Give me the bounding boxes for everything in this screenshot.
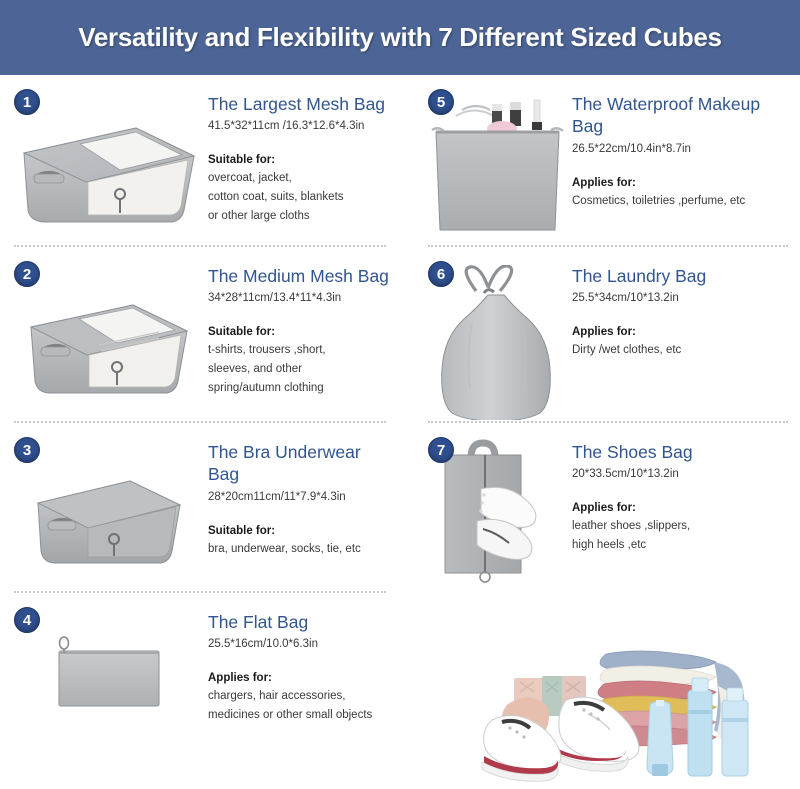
- item-applies-line: spring/autumn clothing: [208, 379, 392, 398]
- item-image-2: [8, 261, 208, 423]
- item-applies-line: t-shirts, trousers ,short,: [208, 341, 392, 360]
- item-applies-line: medicines or other small objects: [208, 706, 392, 725]
- item-badge-7: 7: [428, 437, 454, 463]
- item-applies-label-1: Suitable for:: [208, 154, 392, 166]
- item-row-2: 2: [8, 247, 392, 423]
- item-applies-label-6: Applies for:: [572, 326, 794, 338]
- item-badge-6: 6: [428, 261, 454, 287]
- item-badge-1: 1: [14, 89, 40, 115]
- item-applies-line: high heels ,etc: [572, 536, 794, 555]
- large-mesh-bag-icon: [16, 98, 201, 238]
- item-badge-5: 5: [428, 89, 454, 115]
- item-dimensions-4: 25.5*16cm/10.0*6.3in: [208, 636, 392, 652]
- item-applies-line: sleeves, and other: [208, 360, 392, 379]
- medium-mesh-bag-icon: [21, 275, 196, 410]
- item-text-7: The Shoes Bag 20*33.5cm/10*13.2in Applie…: [572, 437, 794, 593]
- item-row-3: 3: [8, 423, 392, 593]
- item-applies-label-3: Suitable for:: [208, 525, 392, 537]
- item-title-7: The Shoes Bag: [572, 441, 794, 463]
- item-applies-label-7: Applies for:: [572, 502, 794, 514]
- item-text-6: The Laundry Bag 25.5*34cm/10*13.2in Appl…: [572, 261, 794, 423]
- item-applies-line: leather shoes ,slippers,: [572, 517, 794, 536]
- header-banner: Versatility and Flexibility with 7 Diffe…: [0, 0, 800, 75]
- item-text-3: The Bra Underwear Bag 28*20cm11cm/11*7.9…: [208, 437, 392, 593]
- item-title-5: The Waterproof Makeup Bag: [572, 93, 794, 138]
- flat-bag-icon: [43, 629, 173, 724]
- item-title-3: The Bra Underwear Bag: [208, 441, 392, 486]
- left-column: 1: [0, 75, 400, 786]
- item-row-7: 7: [422, 423, 794, 593]
- item-dimensions-2: 34*28*11cm/13.4*11*4.3in: [208, 290, 392, 306]
- item-image-3: [8, 437, 208, 593]
- item-applies-line: Cosmetics, toiletries ,perfume, etc: [572, 192, 794, 211]
- item-applies-line: bra, underwear, socks, tie, etc: [208, 540, 392, 559]
- item-applies-line: overcoat, jacket,: [208, 169, 392, 188]
- lifestyle-photo-shoes-towels-cosmetics: [478, 648, 796, 784]
- item-row-4: 4: [8, 593, 392, 753]
- item-badge-4: 4: [14, 607, 40, 633]
- item-row-1: 1: [8, 75, 392, 247]
- item-applies-line: Dirty /wet clothes, etc: [572, 341, 794, 360]
- item-text-5: The Waterproof Makeup Bag 26.5*22cm/10.4…: [572, 89, 794, 247]
- item-image-4: [8, 607, 208, 753]
- item-badge-2: 2: [14, 261, 40, 287]
- lifestyle-illustration: [478, 648, 796, 784]
- item-applies-line: cotton coat, suits, blankets: [208, 188, 392, 207]
- item-dimensions-3: 28*20cm11cm/11*7.9*4.3in: [208, 489, 392, 505]
- item-title-1: The Largest Mesh Bag: [208, 93, 392, 115]
- waterproof-makeup-bag-icon: [430, 96, 565, 241]
- bra-underwear-bag-icon: [26, 453, 191, 578]
- item-title-4: The Flat Bag: [208, 611, 392, 633]
- item-title-6: The Laundry Bag: [572, 265, 794, 287]
- item-dimensions-1: 41.5*32*11cm /16.3*12.6*4.3in: [208, 118, 392, 134]
- item-image-1: [8, 89, 208, 247]
- item-text-2: The Medium Mesh Bag 34*28*11cm/13.4*11*4…: [208, 261, 392, 423]
- infographic-page: Versatility and Flexibility with 7 Diffe…: [0, 0, 800, 786]
- laundry-bag-icon: [430, 265, 565, 420]
- item-row-6: 6: [422, 247, 794, 423]
- item-dimensions-7: 20*33.5cm/10*13.2in: [572, 466, 794, 482]
- item-applies-line: chargers, hair accessories,: [208, 687, 392, 706]
- item-title-2: The Medium Mesh Bag: [208, 265, 392, 287]
- item-text-1: The Largest Mesh Bag 41.5*32*11cm /16.3*…: [208, 89, 392, 247]
- item-badge-3: 3: [14, 437, 40, 463]
- item-applies-label-2: Suitable for:: [208, 326, 392, 338]
- page-title: Versatility and Flexibility with 7 Diffe…: [78, 22, 721, 53]
- item-text-4: The Flat Bag 25.5*16cm/10.0*6.3in Applie…: [208, 607, 392, 753]
- item-row-5: 5: [422, 75, 794, 247]
- item-dimensions-5: 26.5*22cm/10.4in*8.7in: [572, 141, 794, 157]
- item-applies-label-5: Applies for:: [572, 177, 794, 189]
- item-applies-line: or other large cloths: [208, 207, 392, 226]
- item-dimensions-6: 25.5*34cm/10*13.2in: [572, 290, 794, 306]
- item-applies-label-4: Applies for:: [208, 672, 392, 684]
